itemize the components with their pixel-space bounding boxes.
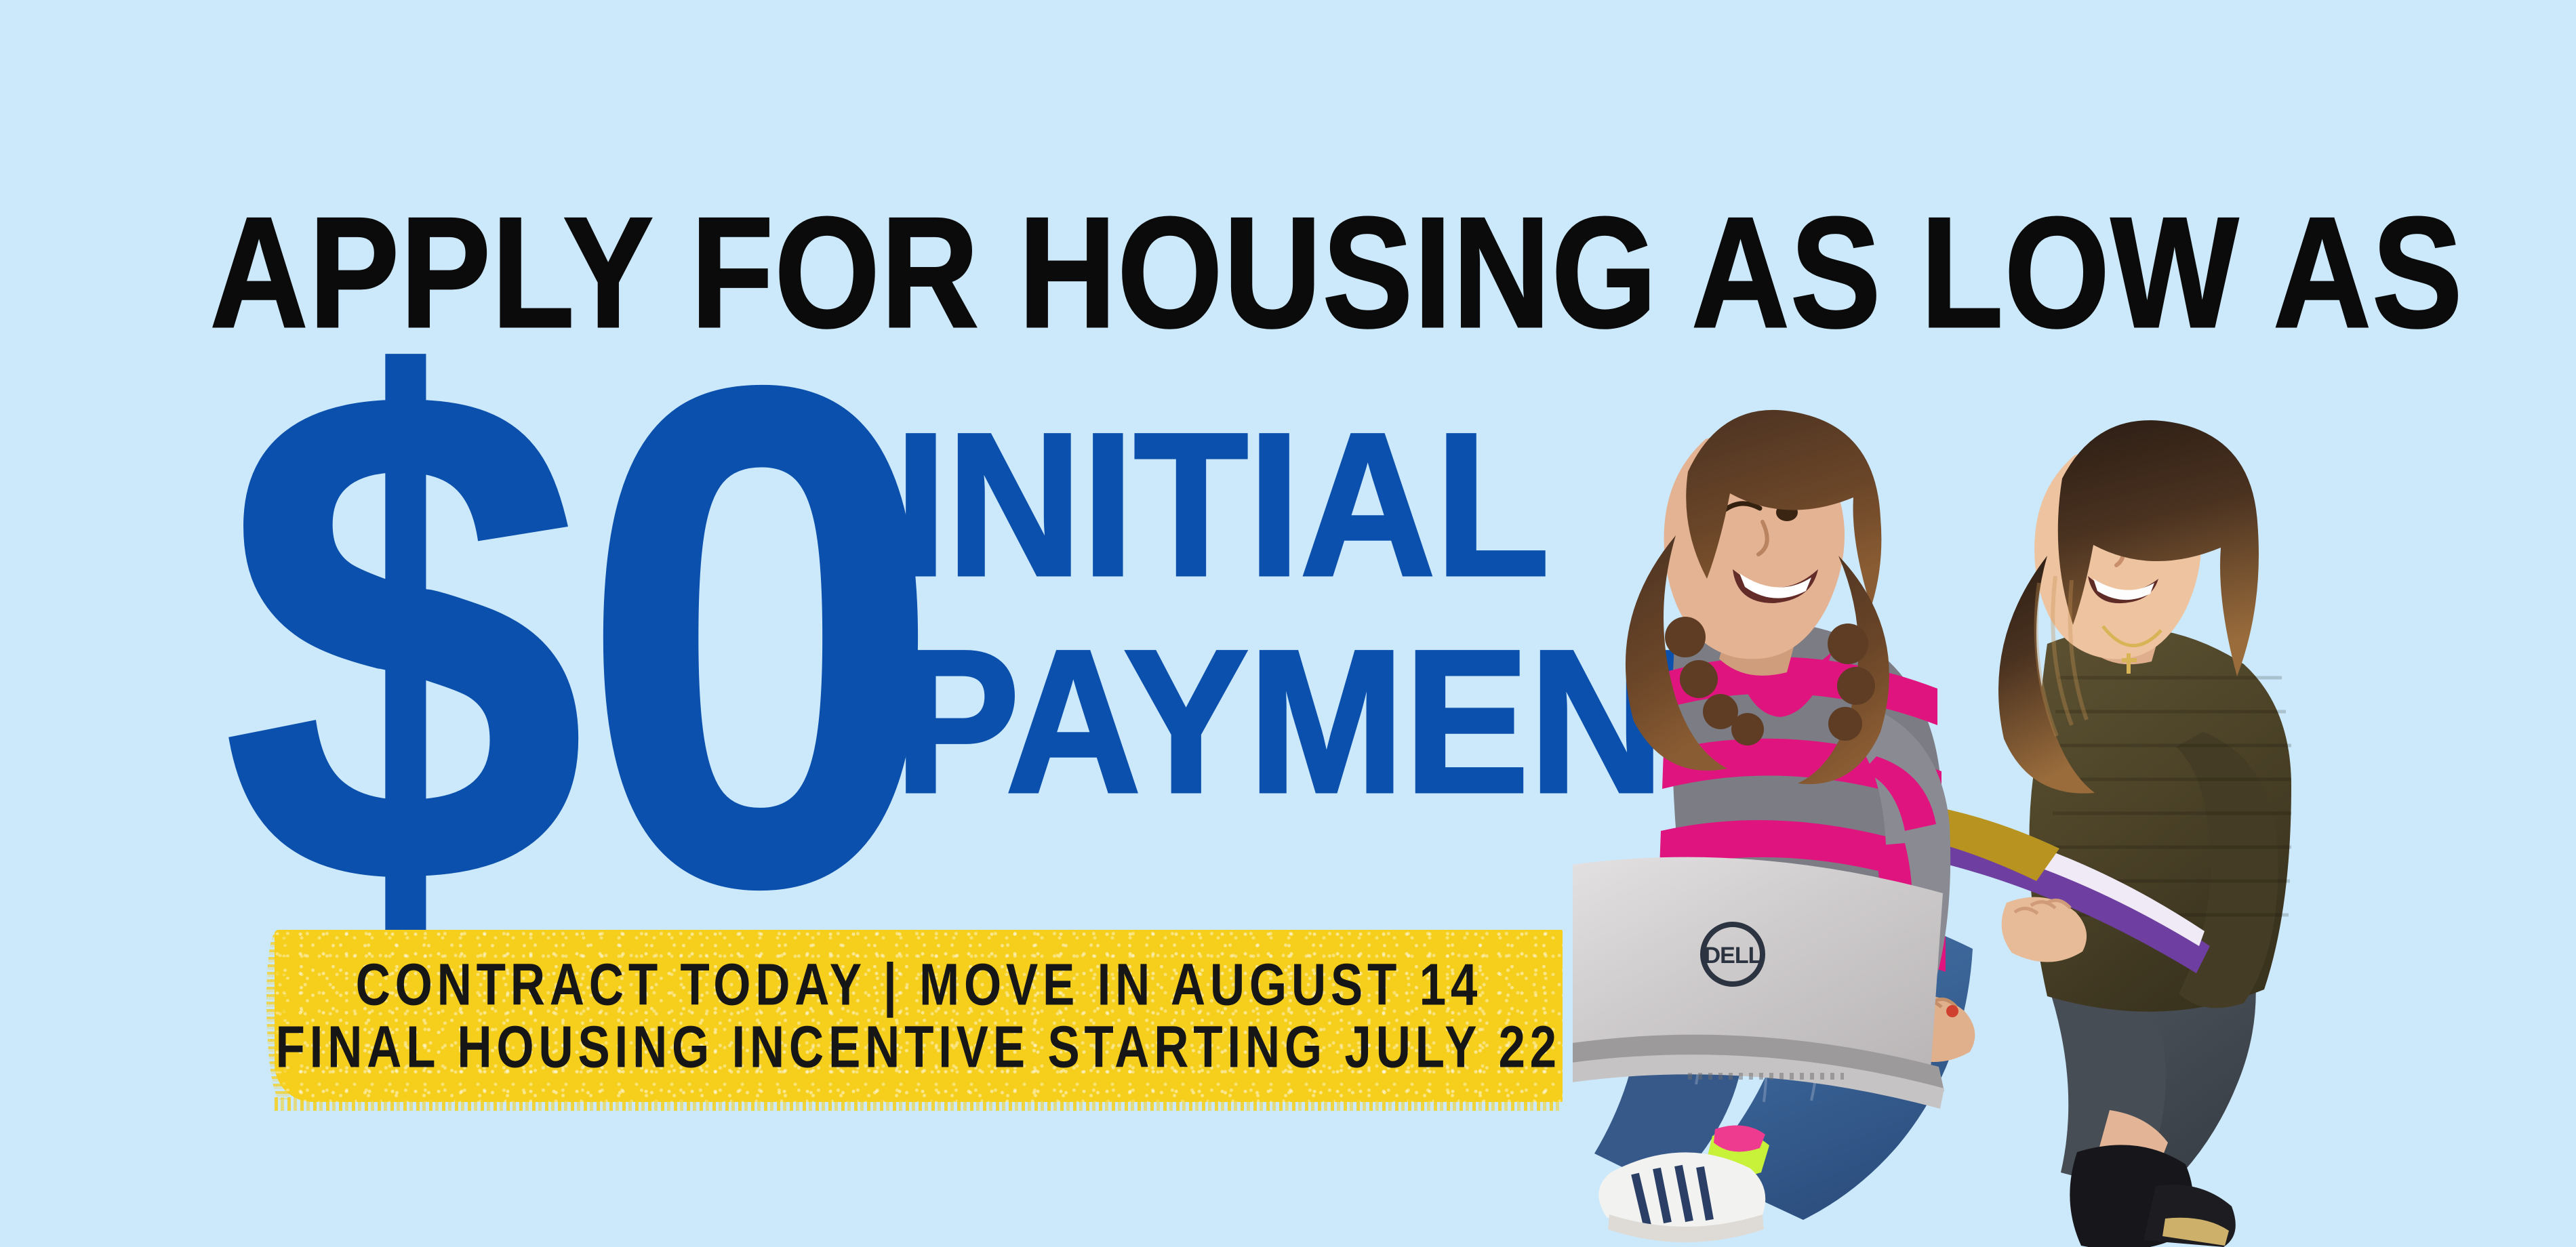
student-left-figure: DELL — [1573, 410, 1975, 1242]
price-amount: $0 — [224, 332, 938, 942]
price-qualifier-line-1: INITIAL — [895, 413, 1518, 595]
student-left-nail-polish — [1946, 1005, 1958, 1017]
promo-details-banner: CONTRACT TODAY | MOVE IN AUGUST 14 FINAL… — [275, 930, 1563, 1102]
dell-laptop: DELL — [1573, 857, 1944, 1109]
students-photo: DELL — [1573, 352, 2373, 1247]
price-qualifier-line-2: PAYMENT — [895, 630, 1518, 812]
promo-banner-line-1: CONTRACT TODAY | MOVE IN AUGUST 14 — [355, 954, 1481, 1015]
student-right-figure — [1914, 420, 2291, 1247]
promo-banner-line-2: FINAL HOUSING INCENTIVE STARTING JULY 22 — [276, 1017, 1561, 1078]
price-block: $0 INITIAL PAYMENT — [224, 352, 1647, 908]
promo-banner-root: APPLY FOR HOUSING AS LOW AS $0 INITIAL P… — [0, 0, 2576, 1247]
promo-details-banner-inner: CONTRACT TODAY | MOVE IN AUGUST 14 FINAL… — [275, 930, 1563, 1102]
svg-text:DELL: DELL — [1704, 943, 1762, 968]
price-qualifier: INITIAL PAYMENT — [895, 413, 1573, 812]
